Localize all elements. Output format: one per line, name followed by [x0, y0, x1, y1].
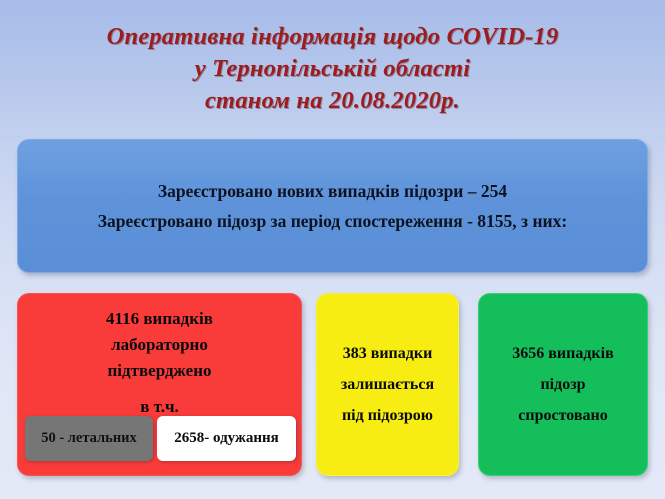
- confirmed-line-1: 4116 випадків: [18, 306, 301, 332]
- card-refuted: 3656 випадків підозр спростовано: [478, 293, 648, 476]
- summary-banner: Зареєстровано нових випадків підозри – 2…: [17, 139, 648, 273]
- banner-line-2: Зареєстровано підозр за період спостереж…: [18, 206, 647, 236]
- page-title-line-1: Оперативна інформація щодо COVID-19: [0, 21, 665, 53]
- card-lab-confirmed: 4116 випадків лабораторно підтверджено в…: [17, 293, 302, 476]
- confirmed-subrow: 50 - летальних 2658- одужання: [25, 416, 296, 461]
- pending-line-3: під підозрою: [317, 400, 458, 431]
- deaths-badge: 50 - летальних: [25, 416, 153, 461]
- pending-line-1: 383 випадки: [317, 338, 458, 369]
- slide-canvas: Оперативна інформація щодо COVID-19 у Те…: [0, 0, 665, 499]
- recovered-badge: 2658- одужання: [157, 416, 296, 461]
- banner-line-1: Зареєстровано нових випадків підозри – 2…: [18, 176, 647, 206]
- refuted-line-3: спростовано: [479, 400, 647, 431]
- refuted-line-1: 3656 випадків: [479, 338, 647, 369]
- card-pending-suspicion: 383 випадки залишається під підозрою: [316, 293, 459, 476]
- pending-line-2: залишається: [317, 369, 458, 400]
- refuted-line-2: підозр: [479, 369, 647, 400]
- page-title-line-2: у Тернопільській області: [0, 53, 665, 85]
- confirmed-line-2: лабораторно: [18, 332, 301, 358]
- page-title: Оперативна інформація щодо COVID-19 у Те…: [0, 21, 665, 117]
- page-title-line-3: станом на 20.08.2020р.: [0, 85, 665, 117]
- confirmed-line-3: підтверджено: [18, 358, 301, 384]
